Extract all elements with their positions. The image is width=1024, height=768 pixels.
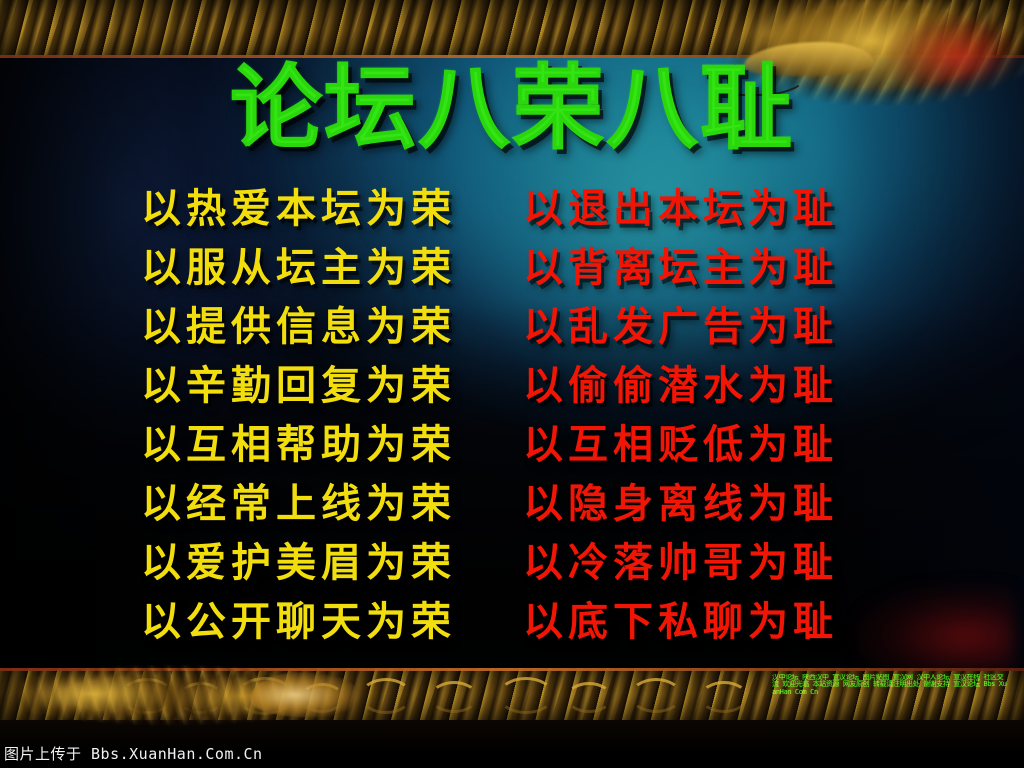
couplet-row: 以经常上线为荣 以隐身离线为耻 <box>0 471 1024 530</box>
shame-line: 以乱发广告为耻 <box>511 294 893 352</box>
couplet-row: 以爱护美眉为荣 以冷落帅哥为耻 <box>0 530 1024 589</box>
honor-line: 以经常上线为荣 <box>131 471 511 529</box>
poster-canvas: 论坛八荣八耻 以热爱本坛为荣 以退出本坛为耻 以服从坛主为荣 以背离坛主为耻 以… <box>0 0 1024 768</box>
shame-line: 以底下私聊为耻 <box>511 589 893 647</box>
gold-vine-icon <box>178 682 224 714</box>
gold-vine-icon <box>630 678 682 713</box>
honor-line: 以热爱本坛为荣 <box>131 176 511 234</box>
corner-green-text: 汉中论坛 陕西汉中 宣汉论坛 图片贴图 宣汉网 汉中人论坛 宣汉在线 社区交流 … <box>772 674 1008 704</box>
page-title: 论坛八荣八耻 <box>0 62 1024 154</box>
couplet-row: 以提供信息为荣 以乱发广告为耻 <box>0 294 1024 353</box>
dragon-head-bottom-icon <box>250 672 360 718</box>
shame-line: 以偷偷潜水为耻 <box>511 353 893 411</box>
couplet-row: 以公开聊天为荣 以底下私聊为耻 <box>0 589 1024 648</box>
gold-vine-icon <box>360 678 412 714</box>
honor-line: 以辛勤回复为荣 <box>131 353 511 411</box>
gold-vine-icon <box>498 677 554 714</box>
gold-vine-icon <box>430 681 478 713</box>
couplet-list: 以热爱本坛为荣 以退出本坛为耻 以服从坛主为荣 以背离坛主为耻 以提供信息为荣 … <box>0 176 1024 648</box>
shame-line: 以隐身离线为耻 <box>511 471 893 529</box>
gold-vine-icon <box>700 681 748 713</box>
honor-line: 以互相帮助为荣 <box>131 412 511 470</box>
couplet-row: 以辛勤回复为荣 以偷偷潜水为耻 <box>0 353 1024 412</box>
honor-line: 以提供信息为荣 <box>131 294 511 352</box>
shame-line: 以互相贬低为耻 <box>511 412 893 470</box>
gold-vine-icon <box>120 678 174 714</box>
honor-line: 以服从坛主为荣 <box>131 235 511 293</box>
couplet-row: 以服从坛主为荣 以背离坛主为耻 <box>0 235 1024 294</box>
couplet-row: 以热爱本坛为荣 以退出本坛为耻 <box>0 176 1024 235</box>
watermark-text: 图片上传于 Bbs.XuanHan.Com.Cn <box>4 743 263 764</box>
honor-line: 以公开聊天为荣 <box>131 589 511 647</box>
shame-line: 以冷落帅哥为耻 <box>511 530 893 588</box>
shame-line: 以退出本坛为耻 <box>511 176 893 234</box>
shame-line: 以背离坛主为耻 <box>511 235 893 293</box>
gold-vine-icon <box>566 682 612 713</box>
honor-line: 以爱护美眉为荣 <box>131 530 511 588</box>
couplet-row: 以互相帮助为荣 以互相贬低为耻 <box>0 412 1024 471</box>
ornamental-top-border <box>0 0 1024 58</box>
